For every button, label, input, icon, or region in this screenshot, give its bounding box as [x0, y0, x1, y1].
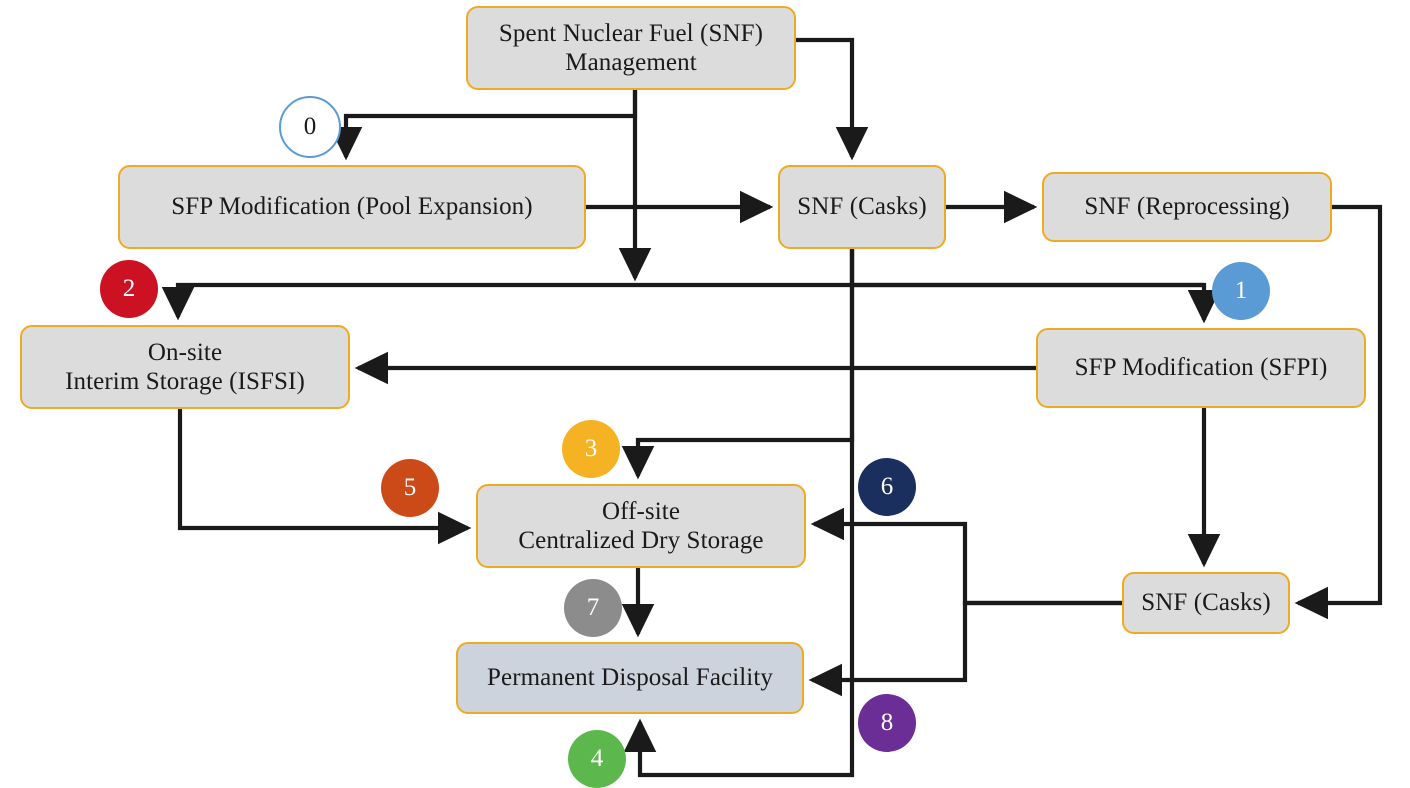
badge-label: 0 [304, 113, 317, 141]
badge-label: 4 [591, 745, 604, 773]
edge-badge-5[interactable]: 5 [381, 459, 439, 517]
edge-badge-1[interactable]: 1 [1212, 262, 1270, 320]
node-label: Spent Nuclear Fuel (SNF) Management [489, 19, 773, 78]
badge-label: 2 [123, 275, 136, 303]
badge-label: 5 [404, 474, 417, 502]
badge-label: 3 [585, 435, 598, 463]
edge-feeder-to-isfsi [178, 285, 1204, 317]
node-snf-casks-top[interactable]: SNF (Casks) [778, 165, 946, 249]
node-offsite-centralized-dry-storage[interactable]: Off-site Centralized Dry Storage [476, 484, 806, 568]
edge-casks-bottom-to-disposal [812, 603, 1122, 680]
node-label: Permanent Disposal Facility [477, 663, 783, 693]
node-snf-casks-bottom[interactable]: SNF (Casks) [1122, 572, 1290, 634]
edge-badge-6[interactable]: 6 [858, 458, 916, 516]
edge-casks-top-to-sfpi [852, 249, 1204, 320]
edge-badge-3[interactable]: 3 [562, 420, 620, 478]
badge-label: 7 [587, 594, 600, 622]
node-sfp-modification-sfpi[interactable]: SFP Modification (SFPI) [1036, 328, 1366, 408]
node-label: On-site Interim Storage (ISFSI) [55, 338, 315, 397]
node-permanent-disposal-facility[interactable]: Permanent Disposal Facility [456, 642, 804, 714]
edge-badge-8[interactable]: 8 [858, 694, 916, 752]
node-isfsi[interactable]: On-site Interim Storage (ISFSI) [20, 325, 350, 409]
node-sfp-modification-pool-expansion[interactable]: SFP Modification (Pool Expansion) [118, 165, 586, 249]
node-label: SFP Modification (Pool Expansion) [161, 192, 542, 222]
edge-mgmt-to-casks-top [796, 40, 852, 157]
badge-label: 8 [881, 709, 894, 737]
node-label: SNF (Reprocessing) [1074, 192, 1299, 222]
node-snf-management[interactable]: Spent Nuclear Fuel (SNF) Management [466, 6, 796, 90]
node-label: Off-site Centralized Dry Storage [508, 497, 773, 556]
edge-badge-2[interactable]: 2 [100, 260, 158, 318]
badge-label: 6 [881, 473, 894, 501]
edge-badge-7[interactable]: 7 [564, 579, 622, 637]
edge-badge-0[interactable]: 0 [279, 96, 341, 158]
edge-badge-4[interactable]: 4 [568, 730, 626, 788]
edge-mgmt-to-pool [346, 90, 635, 157]
badge-label: 1 [1235, 277, 1248, 305]
flowchart-canvas: Spent Nuclear Fuel (SNF) Management SFP … [0, 0, 1410, 788]
node-label: SNF (Casks) [1131, 588, 1281, 618]
node-label: SFP Modification (SFPI) [1065, 353, 1338, 383]
node-snf-reprocessing[interactable]: SNF (Reprocessing) [1042, 172, 1332, 242]
edge-casks-bottom-to-offsite [814, 524, 1122, 603]
node-label: SNF (Casks) [787, 192, 937, 222]
